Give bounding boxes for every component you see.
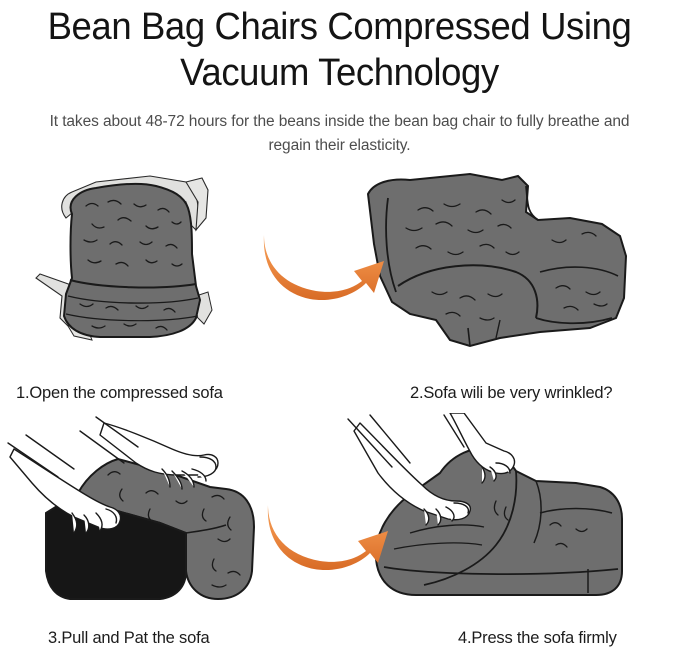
step-3-caption: 3.Pull and Pat the sofa bbox=[48, 627, 387, 649]
header: Bean Bag Chairs Compressed Using Vacuum … bbox=[0, 0, 679, 158]
step-2: 2.Sofa wili be very wrinkled? bbox=[340, 168, 679, 412]
step-4-caption: 4.Press the sofa firmly bbox=[458, 627, 679, 649]
infographic-root: Bean Bag Chairs Compressed Using Vacuum … bbox=[0, 0, 679, 657]
page-subtitle: It takes about 48-72 hours for the beans… bbox=[0, 96, 679, 158]
step-1-to-2-arrow bbox=[262, 227, 388, 303]
wrinkled-sofa-body bbox=[368, 174, 626, 346]
compressed-bag-body bbox=[64, 184, 200, 337]
step-3-to-4-arrow bbox=[266, 497, 392, 573]
page-title: Bean Bag Chairs Compressed Using Vacuum … bbox=[14, 0, 666, 96]
step-2-caption: 2.Sofa wili be very wrinkled? bbox=[410, 382, 679, 404]
sofa-body bbox=[46, 459, 254, 599]
step-1-caption: 1.Open the compressed sofa bbox=[16, 382, 355, 404]
wrinkled-sofa-illustration bbox=[340, 168, 679, 363]
